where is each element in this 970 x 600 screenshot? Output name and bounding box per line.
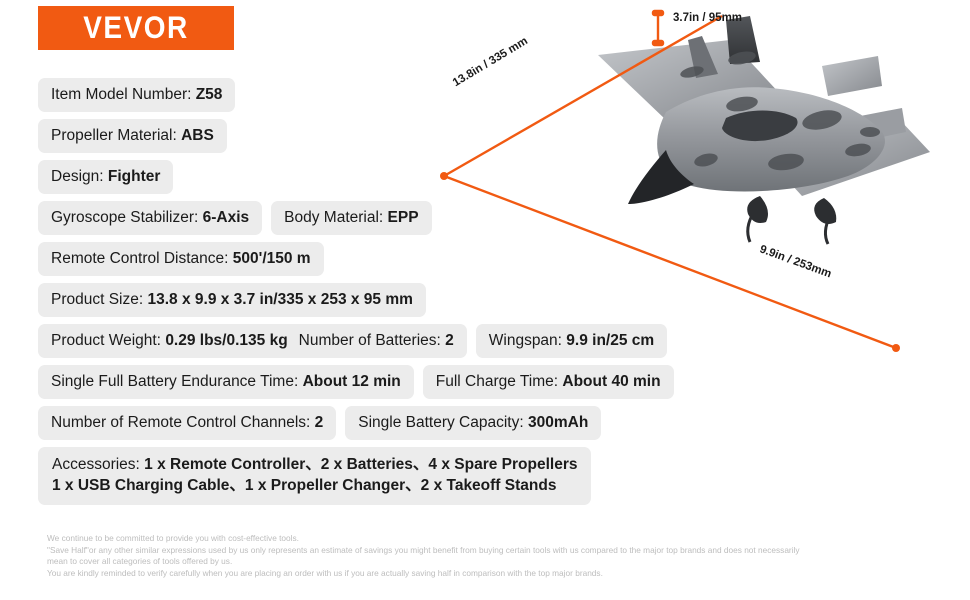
spec-item-body-material: Body Material: EPP <box>271 201 431 235</box>
product-spec-page: VEVOR Item Model Number: Z58 Propeller M… <box>0 0 970 600</box>
spec-item-remote-control-distance: Remote Control Distance: 500'/150 m <box>38 242 324 276</box>
spec-item-product-size: Product Size: 13.8 x 9.9 x 3.7 in/335 x … <box>38 283 426 317</box>
spec-item-single-battery-capacity: Single Battery Capacity: 300mAh <box>345 406 601 440</box>
spec-item-product-weight: Product Weight: 0.29 lbs/0.135 kgNumber … <box>38 324 467 358</box>
spec-item-gyroscope-stabilizer: Gyroscope Stabilizer: 6-Axis <box>38 201 262 235</box>
dimension-callouts <box>430 0 970 380</box>
spec-item-accessories: Accessories: 1 x Remote Controller、2 x B… <box>38 447 591 505</box>
disclaimer-text: We continue to be committed to provide y… <box>47 533 947 579</box>
vevor-logo: VEVOR <box>38 6 234 50</box>
spec-item-propeller-material: Propeller Material: ABS <box>38 119 227 153</box>
spec-item-model-number: Item Model Number: Z58 <box>38 78 235 112</box>
spec-item-battery-endurance-time: Single Full Battery Endurance Time: Abou… <box>38 365 414 399</box>
spec-row: Accessories: 1 x Remote Controller、2 x B… <box>38 447 808 505</box>
product-image-block: 3.7in / 95mm 13.8in / 335 mm 9.9in / 253… <box>430 0 970 380</box>
brand-name: VEVOR <box>83 10 189 46</box>
disclaimer-line-2: "Save Half"or any other similar expressi… <box>47 545 947 557</box>
dimension-label-height: 3.7in / 95mm <box>673 12 742 24</box>
disclaimer-line-4: You are kindly reminded to verify carefu… <box>47 568 947 580</box>
spec-item-remote-control-channels: Number of Remote Control Channels: 2 <box>38 406 336 440</box>
disclaimer-line-3: mean to cover all categories of tools of… <box>47 556 947 568</box>
spec-row: Number of Remote Control Channels: 2 Sin… <box>38 406 808 440</box>
disclaimer-line-1: We continue to be committed to provide y… <box>47 533 947 545</box>
spec-item-design: Design: Fighter <box>38 160 173 194</box>
